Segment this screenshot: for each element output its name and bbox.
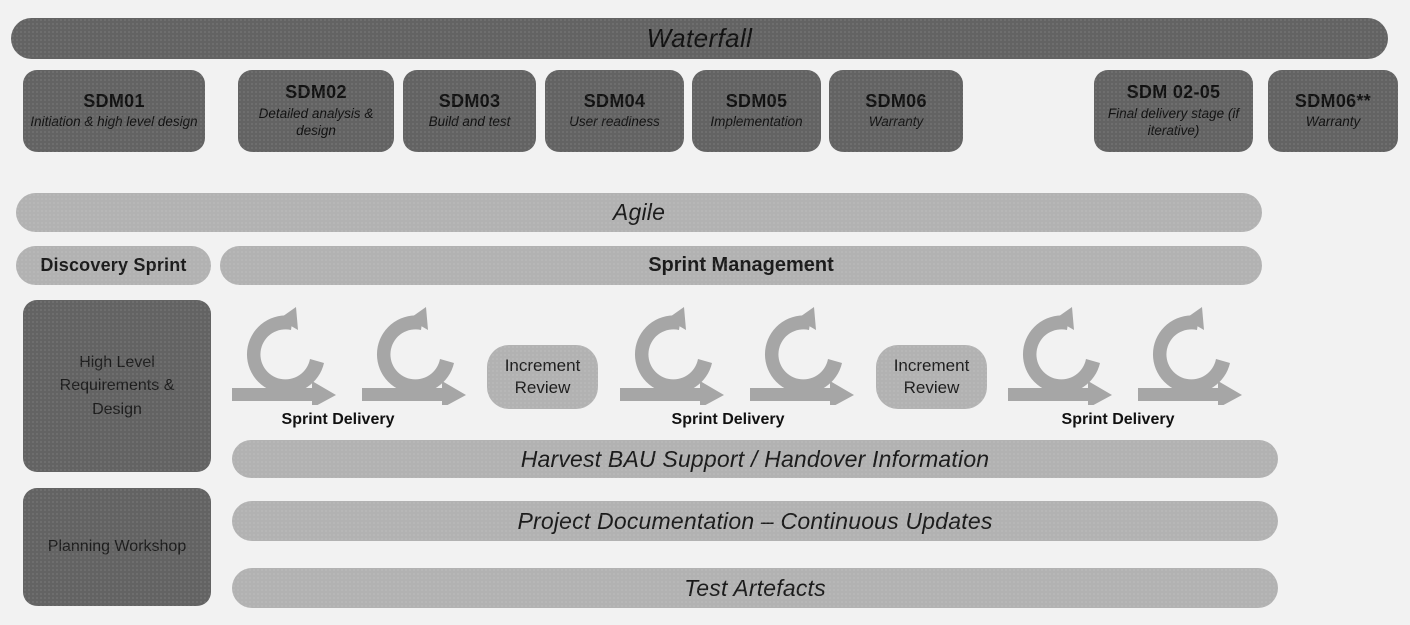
continuous-bar-label: Harvest BAU Support / Handover Informati… bbox=[521, 446, 990, 472]
increment-review-box[interactable]: Increment Review bbox=[487, 345, 598, 409]
sprint-cycle-icon bbox=[750, 305, 860, 405]
continuous-bar-label: Test Artefacts bbox=[684, 575, 826, 601]
stage-desc: Detailed analysis & design bbox=[238, 106, 394, 140]
sprint-cycle-icon bbox=[232, 305, 342, 405]
harvest-bau-bar: Harvest BAU Support / Handover Informati… bbox=[232, 440, 1278, 478]
waterfall-stage-sdm03[interactable]: SDM03 Build and test bbox=[403, 70, 536, 152]
discovery-sprint-chip[interactable]: Discovery Sprint bbox=[16, 246, 211, 285]
stage-code: SDM02 bbox=[285, 82, 347, 103]
waterfall-stage-sdm01[interactable]: SDM01 Initiation & high level design bbox=[23, 70, 205, 152]
stage-desc: Final delivery stage (if iterative) bbox=[1094, 106, 1253, 140]
side-box-label: High Level Requirements & Design bbox=[23, 351, 211, 421]
sprint-delivery-label: Sprint Delivery bbox=[1052, 411, 1184, 429]
stage-code: SDM04 bbox=[584, 91, 646, 112]
diagram-canvas: Waterfall SDM01 Initiation & high level … bbox=[0, 0, 1410, 625]
waterfall-stage-sdm06[interactable]: SDM06 Warranty bbox=[829, 70, 963, 152]
waterfall-stage-sdm02-05[interactable]: SDM 02-05 Final delivery stage (if itera… bbox=[1094, 70, 1253, 152]
stage-desc: Build and test bbox=[423, 114, 517, 131]
increment-review-label: Increment Review bbox=[487, 355, 598, 399]
stage-code: SDM03 bbox=[439, 91, 501, 112]
sprint-management-bar: Sprint Management bbox=[220, 246, 1262, 285]
stage-desc: Initiation & high level design bbox=[24, 114, 203, 131]
stage-code: SDM 02-05 bbox=[1127, 82, 1221, 103]
discovery-sprint-label: Discovery Sprint bbox=[40, 255, 186, 276]
stage-desc: Warranty bbox=[863, 114, 930, 131]
project-documentation-bar: Project Documentation – Continuous Updat… bbox=[232, 501, 1278, 541]
stage-code: SDM05 bbox=[726, 91, 788, 112]
increment-review-label: Increment Review bbox=[876, 355, 987, 399]
waterfall-stage-sdm05[interactable]: SDM05 Implementation bbox=[692, 70, 821, 152]
sprint-cycle-icon bbox=[1008, 305, 1118, 405]
sprint-cycle-icon bbox=[362, 305, 472, 405]
continuous-bar-label: Project Documentation – Continuous Updat… bbox=[517, 508, 992, 534]
agile-banner-label: Agile bbox=[613, 199, 665, 225]
waterfall-stage-sdm02[interactable]: SDM02 Detailed analysis & design bbox=[238, 70, 394, 152]
sprint-cycle-icon bbox=[1138, 305, 1248, 405]
sprint-cycle-icon bbox=[620, 305, 730, 405]
stage-desc: User readiness bbox=[563, 114, 666, 131]
agile-banner: Agile bbox=[16, 193, 1262, 232]
sprint-delivery-label: Sprint Delivery bbox=[662, 411, 794, 429]
side-box-label: Planning Workshop bbox=[38, 535, 196, 558]
sprint-delivery-label: Sprint Delivery bbox=[272, 411, 404, 429]
high-level-requirements-box[interactable]: High Level Requirements & Design bbox=[23, 300, 211, 472]
sprint-delivery-text: Sprint Delivery bbox=[672, 411, 785, 428]
planning-workshop-box[interactable]: Planning Workshop bbox=[23, 488, 211, 606]
increment-review-box[interactable]: Increment Review bbox=[876, 345, 987, 409]
test-artefacts-bar: Test Artefacts bbox=[232, 568, 1278, 608]
stage-desc: Warranty bbox=[1300, 114, 1367, 131]
sprint-delivery-text: Sprint Delivery bbox=[282, 411, 395, 428]
waterfall-banner: Waterfall bbox=[11, 18, 1388, 59]
stage-code: SDM01 bbox=[83, 91, 145, 112]
sprint-management-label: Sprint Management bbox=[648, 254, 834, 277]
sprint-delivery-text: Sprint Delivery bbox=[1062, 411, 1175, 428]
waterfall-banner-label: Waterfall bbox=[647, 24, 753, 54]
stage-code: SDM06 bbox=[865, 91, 927, 112]
stage-desc: Implementation bbox=[704, 114, 808, 131]
stage-code: SDM06** bbox=[1295, 91, 1371, 112]
waterfall-stage-sdm04[interactable]: SDM04 User readiness bbox=[545, 70, 684, 152]
waterfall-stage-sdm06-warranty[interactable]: SDM06** Warranty bbox=[1268, 70, 1398, 152]
